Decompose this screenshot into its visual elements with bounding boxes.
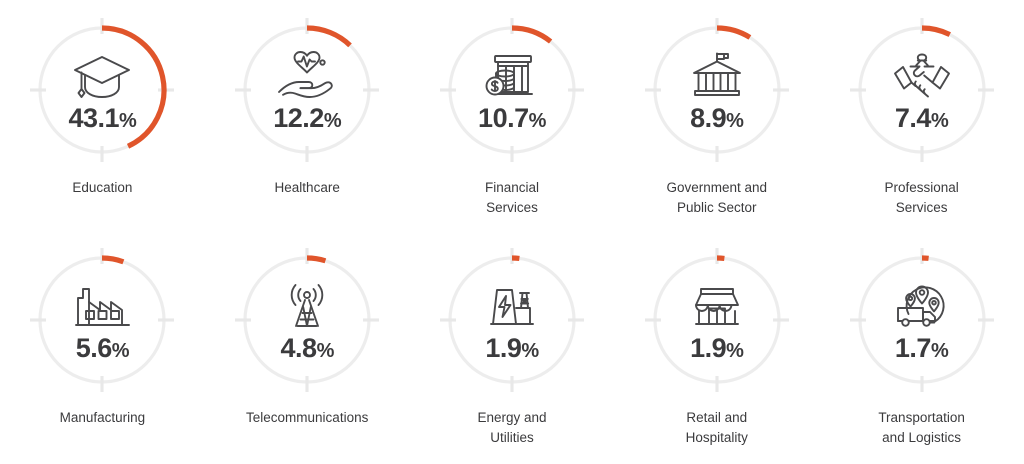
gauge-telecommunications[interactable]: 4.8% Telecommunications: [205, 242, 410, 464]
gauge-dial-retail-and-hospitality: 1.9%: [639, 242, 795, 398]
gauge-dial-telecommunications: 4.8%: [229, 242, 385, 398]
gauge-label-government-and-public-sector: Government and Public Sector: [667, 178, 768, 217]
gauge-track: [860, 28, 984, 152]
gauge-progress-arc: [307, 28, 350, 45]
gauge-track: [450, 28, 574, 152]
gauge-education[interactable]: 43.1% Education: [0, 12, 205, 230]
gauge-energy-and-utilities[interactable]: 1.9% Energy and Utilities: [410, 242, 615, 464]
gauge-track: [655, 28, 779, 152]
gauge-label-financial-services: Financial Services: [485, 178, 539, 217]
gauge-track: [245, 258, 369, 382]
gauge-label-education: Education: [72, 178, 132, 198]
gauge-retail-and-hospitality[interactable]: 1.9% Retail and Hospitality: [614, 242, 819, 464]
gauge-label-telecommunications: Telecommunications: [246, 408, 368, 428]
gauge-label-manufacturing: Manufacturing: [60, 408, 146, 428]
gauge-progress-arc: [717, 28, 750, 37]
gauge-professional-services[interactable]: 7.4% Professional Services: [819, 12, 1024, 230]
gauge-dial-transportation-and-logistics: 1.7%: [844, 242, 1000, 398]
gauge-progress-arc: [922, 28, 950, 35]
gauge-track: [245, 28, 369, 152]
gauge-dial-education: 43.1%: [24, 12, 180, 168]
gauge-track: [860, 258, 984, 382]
gauge-progress-arc: [307, 258, 325, 261]
gauge-label-healthcare: Healthcare: [275, 178, 340, 198]
gauge-dial-energy-and-utilities: 1.9%: [434, 242, 590, 398]
gauge-dial-government-and-public-sector: 8.9%: [639, 12, 795, 168]
gauge-label-professional-services: Professional Services: [884, 178, 958, 217]
gauge-track: [40, 258, 164, 382]
gauge-progress-arc: [512, 28, 551, 41]
gauge-manufacturing[interactable]: 5.6% Manufacturing: [0, 242, 205, 464]
gauge-healthcare[interactable]: 12.2% Healthcare: [205, 12, 410, 230]
infographic-board: 43.1% Education 12.2%: [0, 0, 1024, 464]
gauge-progress-arc: [102, 258, 123, 262]
gauge-row-2: 5.6% Manufacturing: [0, 230, 1024, 464]
gauge-dial-manufacturing: 5.6%: [24, 242, 180, 398]
gauge-dial-financial-services: 10.7%: [434, 12, 590, 168]
gauge-dial-professional-services: 7.4%: [844, 12, 1000, 168]
gauge-label-transportation-and-logistics: Transportation and Logistics: [878, 408, 965, 447]
gauge-row-1: 43.1% Education 12.2%: [0, 0, 1024, 230]
gauge-label-retail-and-hospitality: Retail and Hospitality: [686, 408, 748, 447]
gauge-track: [450, 258, 574, 382]
gauge-track: [655, 258, 779, 382]
gauge-transportation-and-logistics[interactable]: 1.7% Transportation and Logistics: [819, 242, 1024, 464]
gauge-dial-healthcare: 12.2%: [229, 12, 385, 168]
gauge-financial-services[interactable]: 10.7% Financial Services: [410, 12, 615, 230]
gauge-progress-arc: [102, 28, 164, 146]
gauge-government-and-public-sector[interactable]: 8.9% Government and Public Sector: [614, 12, 819, 230]
gauge-label-energy-and-utilities: Energy and Utilities: [477, 408, 546, 447]
